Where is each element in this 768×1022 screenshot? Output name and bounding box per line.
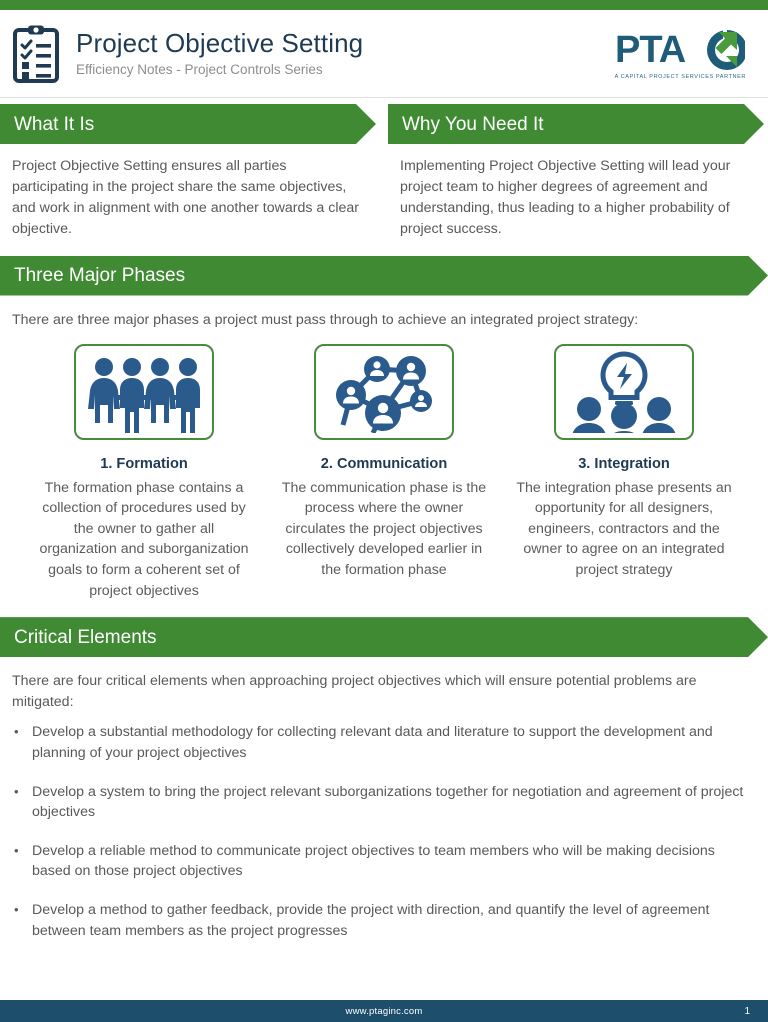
phase-card: 1. Formation The formation phase contain…	[32, 344, 256, 601]
footer-website-link[interactable]: www.ptaginc.com	[14, 1006, 754, 1017]
document-content: What It Is Project Objective Setting ens…	[0, 98, 768, 1022]
banner-why-you-need-it: Why You Need It	[388, 104, 764, 144]
bullet-marker-icon: •	[14, 841, 32, 882]
banner-what-it-is: What It Is	[0, 104, 376, 144]
document-footer: www.ptaginc.com 1	[0, 1000, 768, 1022]
phase-2-icon-box	[314, 344, 454, 440]
people-network-nodes-icon	[325, 351, 443, 433]
phase-name: 3. Integration	[578, 456, 670, 474]
banner-three-major-phases-label: Three Major Phases	[14, 266, 185, 285]
critical-elements-list: • Develop a substantial methodology for …	[0, 712, 768, 941]
why-you-need-it-column: Why You Need It Implementing Project Obj…	[388, 104, 764, 240]
phase-card: 2. Communication The communication phase…	[272, 344, 496, 601]
ptag-logo-tagline: A CAPITAL PROJECT SERVICES PARTNER	[615, 74, 746, 80]
group-of-people-holding-hands-icon	[82, 351, 206, 433]
ptag-logo: PTA A CAPITAL PROJECT SERVICES PARTNER	[615, 28, 746, 80]
phases-row: 1. Formation The formation phase contain…	[0, 330, 768, 601]
phase-name: 1. Formation	[100, 456, 188, 474]
list-item: • Develop a method to gather feedback, p…	[14, 900, 750, 941]
list-item-text: Develop a method to gather feedback, pro…	[32, 900, 750, 941]
what-it-is-body: Project Objective Setting ensures all pa…	[0, 144, 376, 240]
page-title: Project Objective Setting	[76, 29, 615, 57]
bullet-marker-icon: •	[14, 722, 32, 763]
phase-description: The formation phase contains a collectio…	[32, 478, 256, 602]
bullet-marker-icon: •	[14, 782, 32, 823]
list-item: • Develop a reliable method to communica…	[14, 841, 750, 882]
phase-1-icon-box	[74, 344, 214, 440]
banner-why-you-need-it-label: Why You Need It	[402, 115, 544, 134]
what-it-is-column: What It Is Project Objective Setting ens…	[0, 104, 376, 240]
document-page: Project Objective Setting Efficiency Not…	[0, 0, 768, 1022]
header-title-block: Project Objective Setting Efficiency Not…	[76, 29, 615, 78]
why-you-need-it-body: Implementing Project Objective Setting w…	[388, 144, 764, 240]
banner-critical-elements: Critical Elements	[0, 617, 768, 657]
clipboard-checklist-icon	[10, 22, 62, 86]
three-major-phases-intro: There are three major phases a project m…	[0, 296, 768, 331]
phase-description: The communication phase is the process w…	[272, 478, 496, 581]
banner-three-major-phases: Three Major Phases	[0, 256, 768, 296]
list-item: • Develop a system to bring the project …	[14, 782, 750, 823]
top-green-rule	[0, 0, 768, 10]
list-item-text: Develop a reliable method to communicate…	[32, 841, 750, 882]
list-item: • Develop a substantial methodology for …	[14, 722, 750, 763]
phase-description: The integration phase presents an opport…	[512, 478, 736, 581]
document-header: Project Objective Setting Efficiency Not…	[0, 10, 768, 98]
list-item-text: Develop a system to bring the project re…	[32, 782, 750, 823]
bullet-marker-icon: •	[14, 900, 32, 941]
lightbulb-over-team-icon	[565, 351, 683, 433]
page-subtitle: Efficiency Notes - Project Controls Seri…	[76, 63, 615, 78]
overview-row: What It Is Project Objective Setting ens…	[0, 98, 768, 240]
critical-elements-section: Critical Elements There are four critica…	[0, 617, 768, 959]
ptag-wordmark-icon: PTA	[615, 28, 745, 72]
phase-name: 2. Communication	[321, 456, 448, 474]
footer-page-number: 1	[744, 1006, 750, 1017]
phase-3-icon-box	[554, 344, 694, 440]
list-item-text: Develop a substantial methodology for co…	[32, 722, 750, 763]
svg-text:PTA: PTA	[615, 29, 686, 71]
three-major-phases-section: Three Major Phases There are three major…	[0, 256, 768, 602]
banner-critical-elements-label: Critical Elements	[14, 628, 157, 647]
banner-what-it-is-label: What It Is	[14, 115, 94, 134]
phase-card: 3. Integration The integration phase pre…	[512, 344, 736, 601]
critical-elements-intro: There are four critical elements when ap…	[0, 657, 768, 712]
